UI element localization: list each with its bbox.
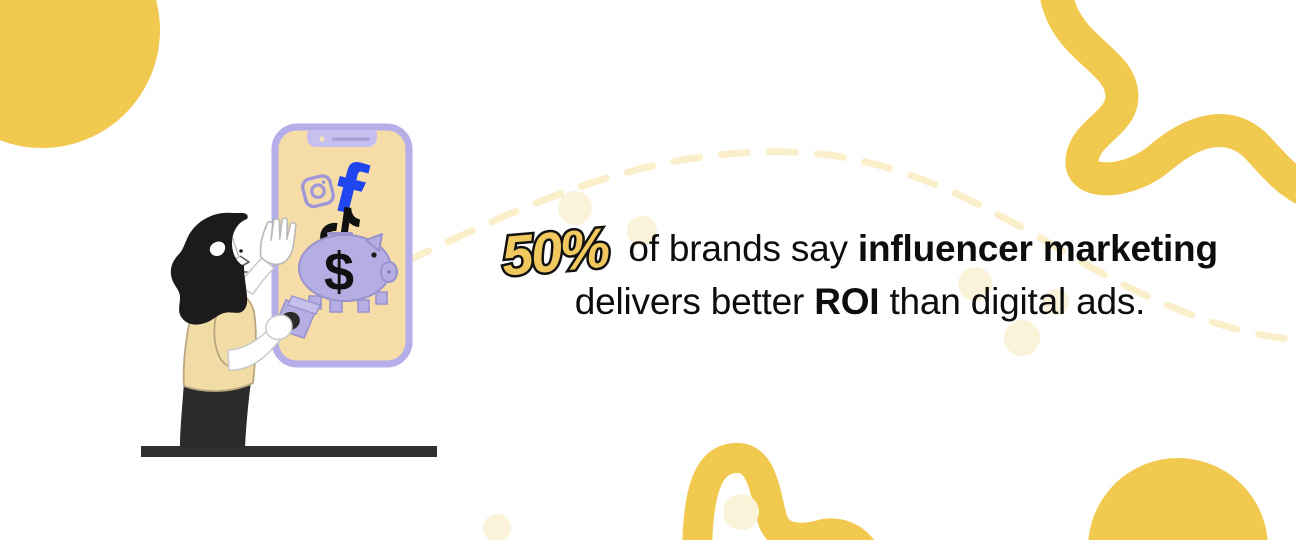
piggy-dollar-label: $	[324, 242, 354, 302]
percent-stat: 50%	[500, 217, 611, 286]
headline-line-1-rest: of brands say	[618, 228, 858, 269]
hand-fingers	[266, 315, 292, 340]
headline-block: 50% of brands say influencer marketing d…	[480, 218, 1240, 322]
piggy-eye	[371, 252, 376, 257]
headline-line-1-bold: influencer marketing	[858, 228, 1218, 269]
headline-line-2-bold: ROI	[814, 281, 879, 322]
piggy-nostril	[387, 270, 390, 273]
phone-speaker-icon	[332, 138, 370, 141]
character-eye	[239, 249, 243, 253]
phone-camera-icon	[319, 136, 324, 141]
poster-canvas: $	[0, 0, 1296, 540]
headline-line-1: 50% of brands say influencer marketing	[480, 218, 1240, 278]
headline-line-2: delivers better ROI than digital ads.	[480, 282, 1240, 322]
headline-line-2-part-1: delivers better	[575, 281, 814, 322]
headline-line-2-part-2: than digital ads.	[879, 281, 1145, 322]
ground-bar	[141, 446, 437, 457]
character-hair	[171, 213, 248, 325]
